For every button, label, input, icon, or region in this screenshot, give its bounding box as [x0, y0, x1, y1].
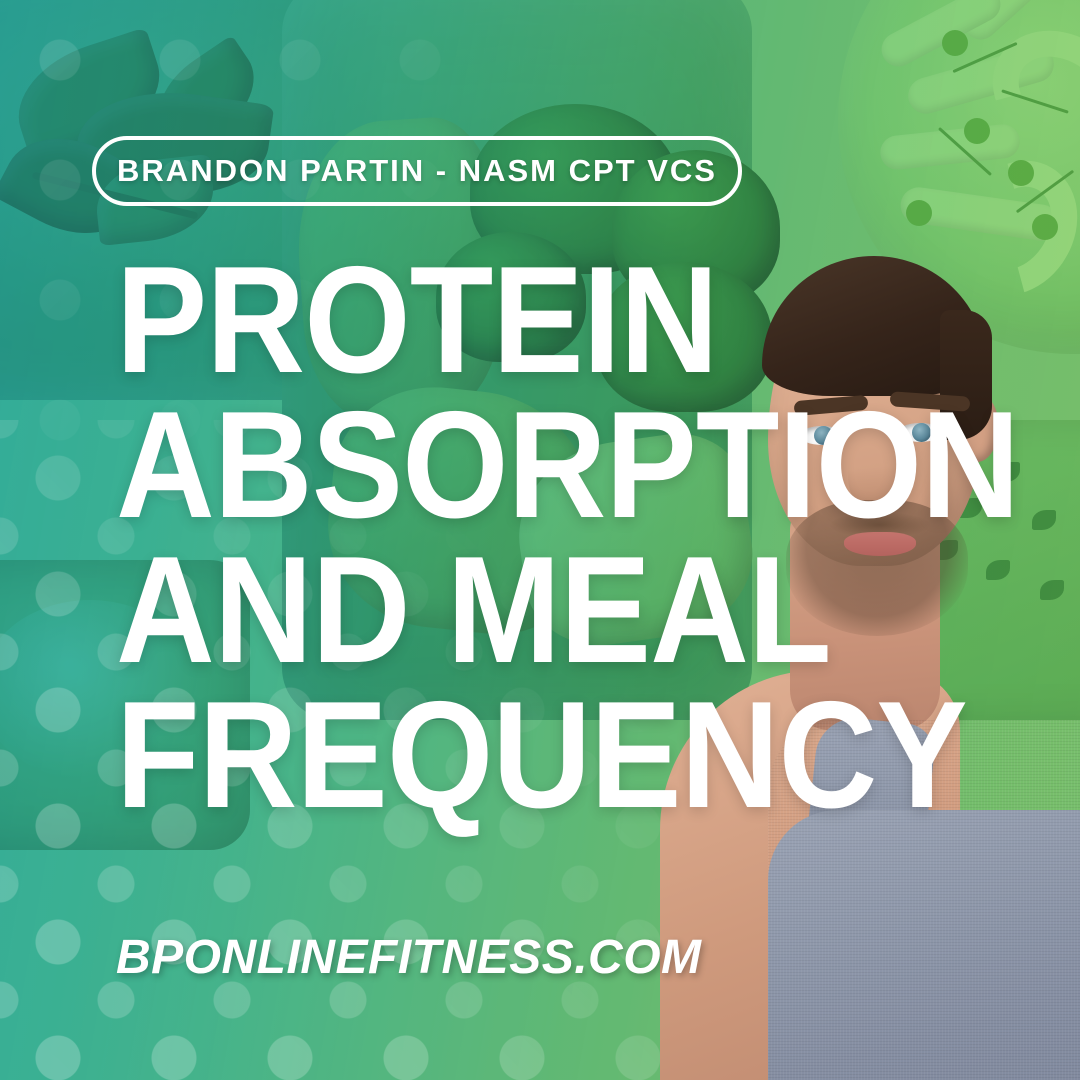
credentials-badge: BRANDON PARTIN - NASM CPT VCS [92, 136, 742, 206]
headline-line-3: AND MEAL [116, 538, 818, 683]
headline-block: PROTEIN ABSORPTION AND MEAL FREQUENCY [116, 248, 896, 829]
headline-line-1: PROTEIN [116, 248, 818, 393]
headline-line-2: ABSORPTION [116, 393, 818, 538]
credentials-badge-label: BRANDON PARTIN - NASM CPT VCS [117, 153, 717, 189]
social-media-graphic: BRANDON PARTIN - NASM CPT VCS PROTEIN AB… [0, 0, 1080, 1080]
headline-line-4: FREQUENCY [116, 683, 818, 828]
website-url[interactable]: BPONLINEFITNESS.COM [116, 930, 702, 985]
